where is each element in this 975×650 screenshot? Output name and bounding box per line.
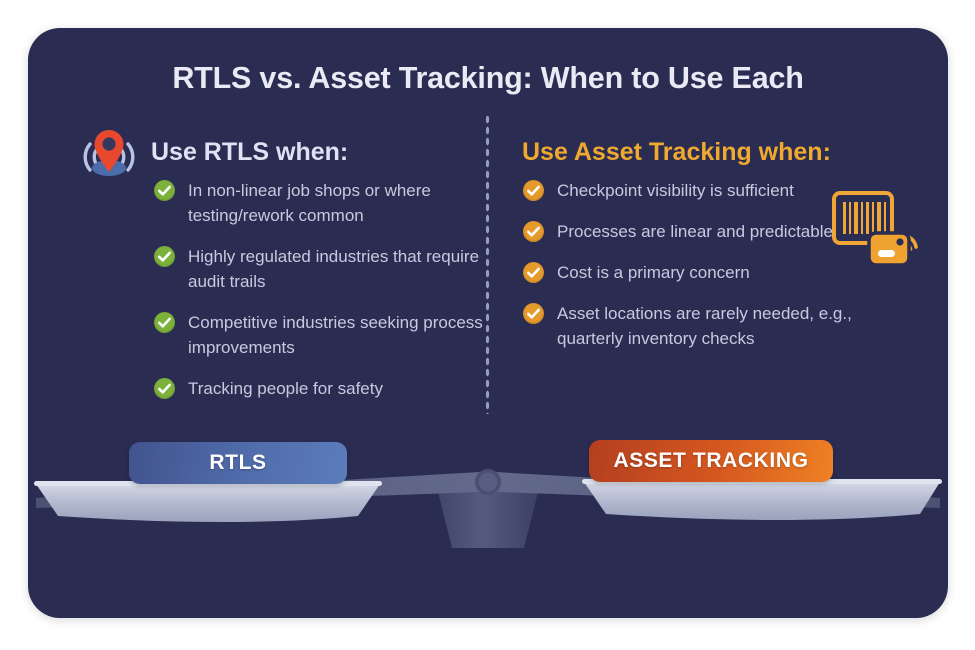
list-item: Cost is a primary concern: [523, 260, 913, 285]
balance-scale-graphic: RTLS ASSET TRACKING: [28, 398, 948, 588]
scale-pan-left: [36, 484, 380, 522]
asset-tracking-bullet-list: Checkpoint visibility is sufficient Proc…: [523, 178, 913, 367]
infographic-card: RTLS vs. Asset Tracking: When to Use Eac…: [28, 28, 948, 618]
check-circle-orange-icon: [523, 221, 544, 242]
list-item: Highly regulated industries that require…: [154, 244, 484, 294]
infographic-canvas: RTLS vs. Asset Tracking: When to Use Eac…: [0, 0, 975, 650]
asset-tracking-heading: Use Asset Tracking when:: [522, 138, 831, 167]
location-pin-signal-icon: [72, 124, 146, 188]
check-circle-green-icon: [154, 180, 175, 201]
page-title: RTLS vs. Asset Tracking: When to Use Eac…: [28, 61, 948, 96]
check-circle-green-icon: [154, 378, 175, 399]
list-item-label: Asset locations are rarely needed, e.g.,…: [557, 304, 852, 348]
list-item: Competitive industries seeking process i…: [154, 310, 484, 360]
list-item-label: Tracking people for safety: [188, 379, 383, 398]
column-divider: [485, 114, 490, 414]
check-circle-orange-icon: [523, 262, 544, 283]
scale-pan-right: [584, 482, 940, 520]
list-item: Processes are linear and predictable: [523, 219, 913, 244]
list-item-label: Checkpoint visibility is sufficient: [557, 181, 794, 200]
rtls-heading: Use RTLS when:: [151, 138, 348, 167]
check-circle-green-icon: [154, 246, 175, 267]
list-item-label: In non-linear job shops or where testing…: [188, 181, 431, 225]
list-item-label: Processes are linear and predictable: [557, 222, 833, 241]
list-item-label: Cost is a primary concern: [557, 263, 750, 282]
scale-svg: [28, 398, 948, 588]
list-item-label: Competitive industries seeking process i…: [188, 313, 483, 357]
scale-label-asset-tracking[interactable]: ASSET TRACKING: [589, 440, 833, 482]
list-item: Checkpoint visibility is sufficient: [523, 178, 807, 203]
check-circle-orange-icon: [523, 303, 544, 324]
rtls-bullet-list: In non-linear job shops or where testing…: [154, 178, 484, 417]
scale-label-rtls[interactable]: RTLS: [129, 442, 347, 484]
check-circle-orange-icon: [523, 180, 544, 201]
list-item: Asset locations are rarely needed, e.g.,…: [523, 301, 897, 351]
check-circle-green-icon: [154, 312, 175, 333]
list-item-label: Highly regulated industries that require…: [188, 247, 479, 291]
list-item: In non-linear job shops or where testing…: [154, 178, 484, 228]
